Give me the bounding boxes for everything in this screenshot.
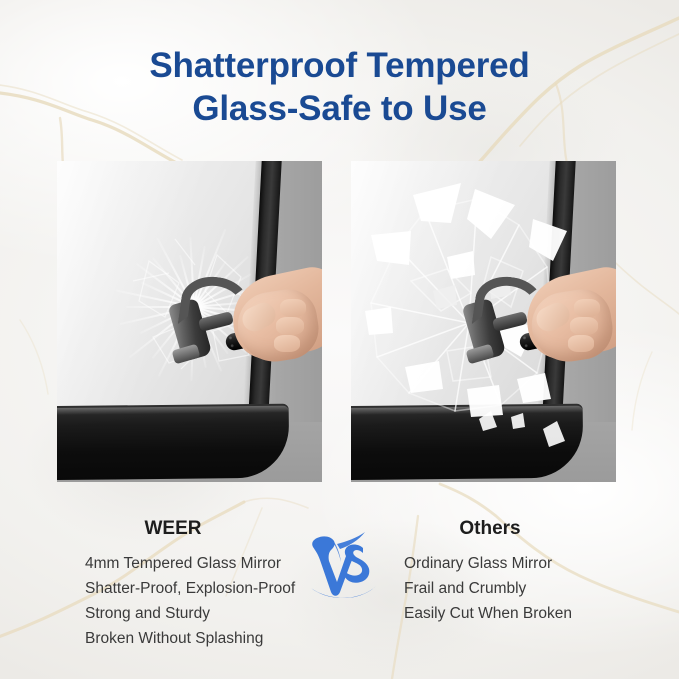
comparison-left-title: WEER bbox=[103, 518, 243, 540]
mirror-frame-bottom bbox=[57, 404, 289, 481]
knuckle bbox=[276, 317, 304, 335]
hand-holding-hammer bbox=[502, 265, 616, 415]
list-item: Ordinary Glass Mirror bbox=[404, 551, 572, 576]
knuckle bbox=[274, 335, 300, 352]
comparison-left-bullets: 4mm Tempered Glass Mirror Shatter-Proof,… bbox=[85, 551, 295, 651]
list-item: Easily Cut When Broken bbox=[404, 601, 572, 626]
list-item: Frail and Crumbly bbox=[404, 576, 572, 601]
list-item: Shatter-Proof, Explosion-Proof bbox=[85, 576, 295, 601]
list-item: Broken Without Splashing bbox=[85, 626, 295, 651]
page-title-line-1: Shatterproof Tempered bbox=[0, 44, 679, 87]
list-item: 4mm Tempered Glass Mirror bbox=[85, 551, 295, 576]
page-title: Shatterproof Tempered Glass-Safe to Use bbox=[0, 44, 679, 130]
knuckle bbox=[568, 335, 594, 352]
comparison-right-title: Others bbox=[420, 518, 560, 540]
knuckle bbox=[280, 299, 306, 317]
page-title-line-2: Glass-Safe to Use bbox=[0, 87, 679, 130]
knuckle bbox=[574, 299, 600, 317]
list-item: Strong and Sturdy bbox=[85, 601, 295, 626]
knuckle bbox=[570, 317, 598, 335]
shattered-ordinary-glass-panel bbox=[351, 161, 616, 482]
product-feature-graphic: Shatterproof Tempered Glass-Safe to Use bbox=[0, 0, 679, 679]
intact-tempered-glass-panel bbox=[57, 161, 322, 482]
hand-holding-hammer bbox=[208, 265, 322, 415]
comparison-right-bullets: Ordinary Glass Mirror Frail and Crumbly … bbox=[404, 551, 572, 626]
vs-logo-icon bbox=[307, 530, 379, 602]
